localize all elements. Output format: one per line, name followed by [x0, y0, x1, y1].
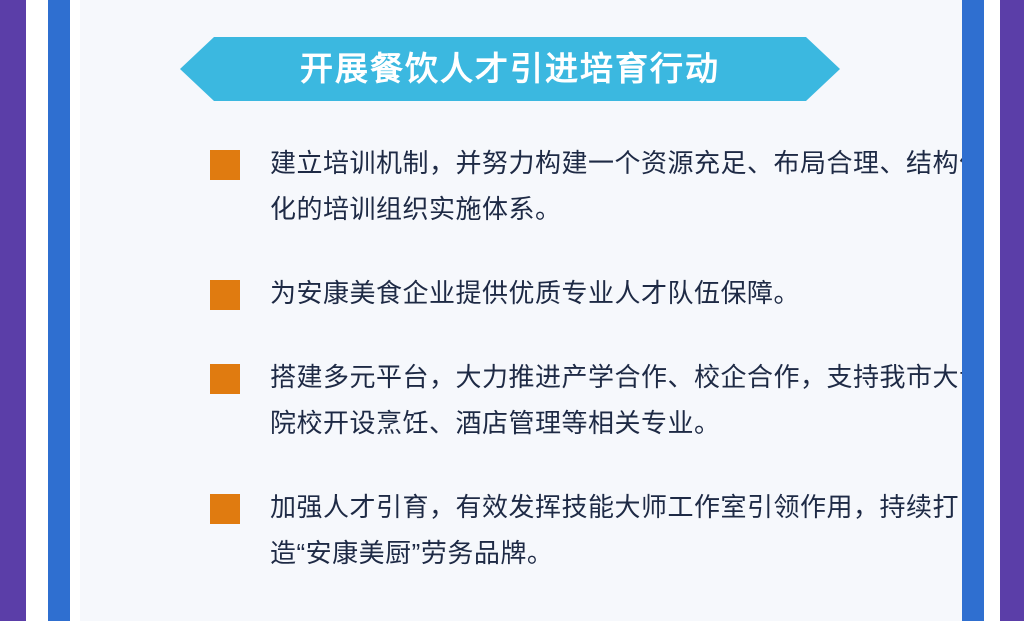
list-item: 加强人才引育，有效发挥技能大师工作室引领作用，持续打造“安康美厨”劳务品牌。	[210, 484, 1020, 576]
bullet-text: 加强人才引育，有效发挥技能大师工作室引领作用，持续打造“安康美厨”劳务品牌。	[270, 484, 995, 576]
left-blue-stripe	[48, 0, 70, 621]
right-white-stripe	[984, 0, 1000, 621]
content-card: 开展餐饮人才引进培育行动 建立培训机制，并努力构建一个资源充足、布局合理、结构优…	[80, 0, 964, 621]
bullet-text: 建立培训机制，并努力构建一个资源充足、布局合理、结构优化的培训组织实施体系。	[270, 140, 995, 232]
ribbon-shape: 开展餐饮人才引进培育行动	[180, 37, 840, 101]
right-blue-stripe	[962, 0, 984, 621]
left-gap-stripe	[70, 0, 80, 621]
bullet-square-icon	[210, 364, 240, 394]
right-purple-stripe	[1000, 0, 1024, 621]
left-white-stripe	[26, 0, 48, 621]
bullet-text: 为安康美食企业提供优质专业人才队伍保障。	[270, 270, 995, 316]
list-item: 为安康美食企业提供优质专业人才队伍保障。	[210, 270, 1020, 316]
list-item: 建立培训机制，并努力构建一个资源充足、布局合理、结构优化的培训组织实施体系。	[210, 140, 1020, 232]
banner-title: 开展餐饮人才引进培育行动	[300, 37, 720, 101]
left-purple-stripe	[0, 0, 26, 621]
bullet-square-icon	[210, 150, 240, 180]
bullet-text: 搭建多元平台，大力推进产学合作、校企合作，支持我市大专院校开设烹饪、酒店管理等相…	[270, 354, 995, 446]
banner-container: 开展餐饮人才引进培育行动	[180, 37, 840, 101]
bullet-list: 建立培训机制，并努力构建一个资源充足、布局合理、结构优化的培训组织实施体系。 为…	[210, 140, 1020, 576]
bullet-square-icon	[210, 280, 240, 310]
bullet-square-icon	[210, 494, 240, 524]
poster-canvas: 开展餐饮人才引进培育行动 建立培训机制，并努力构建一个资源充足、布局合理、结构优…	[0, 0, 1024, 621]
list-item: 搭建多元平台，大力推进产学合作、校企合作，支持我市大专院校开设烹饪、酒店管理等相…	[210, 354, 1020, 446]
